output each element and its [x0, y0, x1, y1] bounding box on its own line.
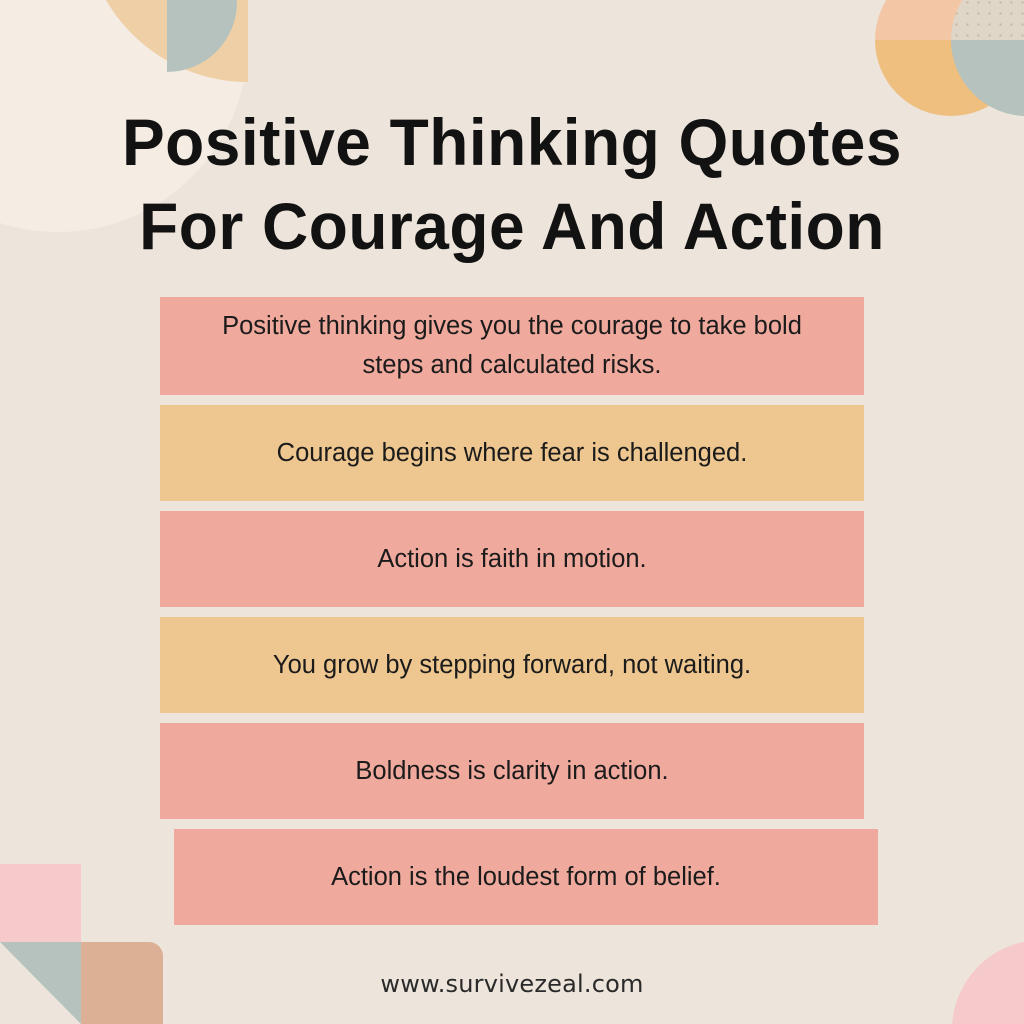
quote-text: Action is faith in motion. — [377, 540, 646, 579]
quote-text: Courage begins where fear is challenged. — [277, 434, 748, 473]
page-title: Positive Thinking Quotes For Courage And… — [0, 100, 1024, 268]
quote-text: Boldness is clarity in action. — [355, 752, 668, 791]
quote-card: Courage begins where fear is challenged. — [160, 405, 864, 501]
quote-text: Positive thinking gives you the courage … — [190, 307, 834, 385]
quote-poster: Positive Thinking Quotes For Courage And… — [0, 0, 1024, 1024]
quote-card: You grow by stepping forward, not waitin… — [160, 617, 864, 713]
quote-card: Boldness is clarity in action. — [160, 723, 864, 819]
page-title-line-1: Positive Thinking Quotes — [15, 100, 1008, 184]
quote-card: Positive thinking gives you the courage … — [160, 297, 864, 395]
quote-text: You grow by stepping forward, not waitin… — [273, 646, 751, 685]
quote-card: Action is faith in motion. — [160, 511, 864, 607]
quote-card: Action is the loudest form of belief. — [174, 829, 878, 925]
quote-text: Action is the loudest form of belief. — [331, 858, 721, 897]
quote-card-list: Positive thinking gives you the courage … — [0, 297, 1024, 935]
poster-content: Positive Thinking Quotes For Courage And… — [0, 0, 1024, 1024]
footer-website-url: www.survivezeal.com — [380, 970, 643, 998]
footer: www.survivezeal.com — [0, 970, 1024, 998]
page-title-line-2: For Courage And Action — [15, 184, 1008, 268]
